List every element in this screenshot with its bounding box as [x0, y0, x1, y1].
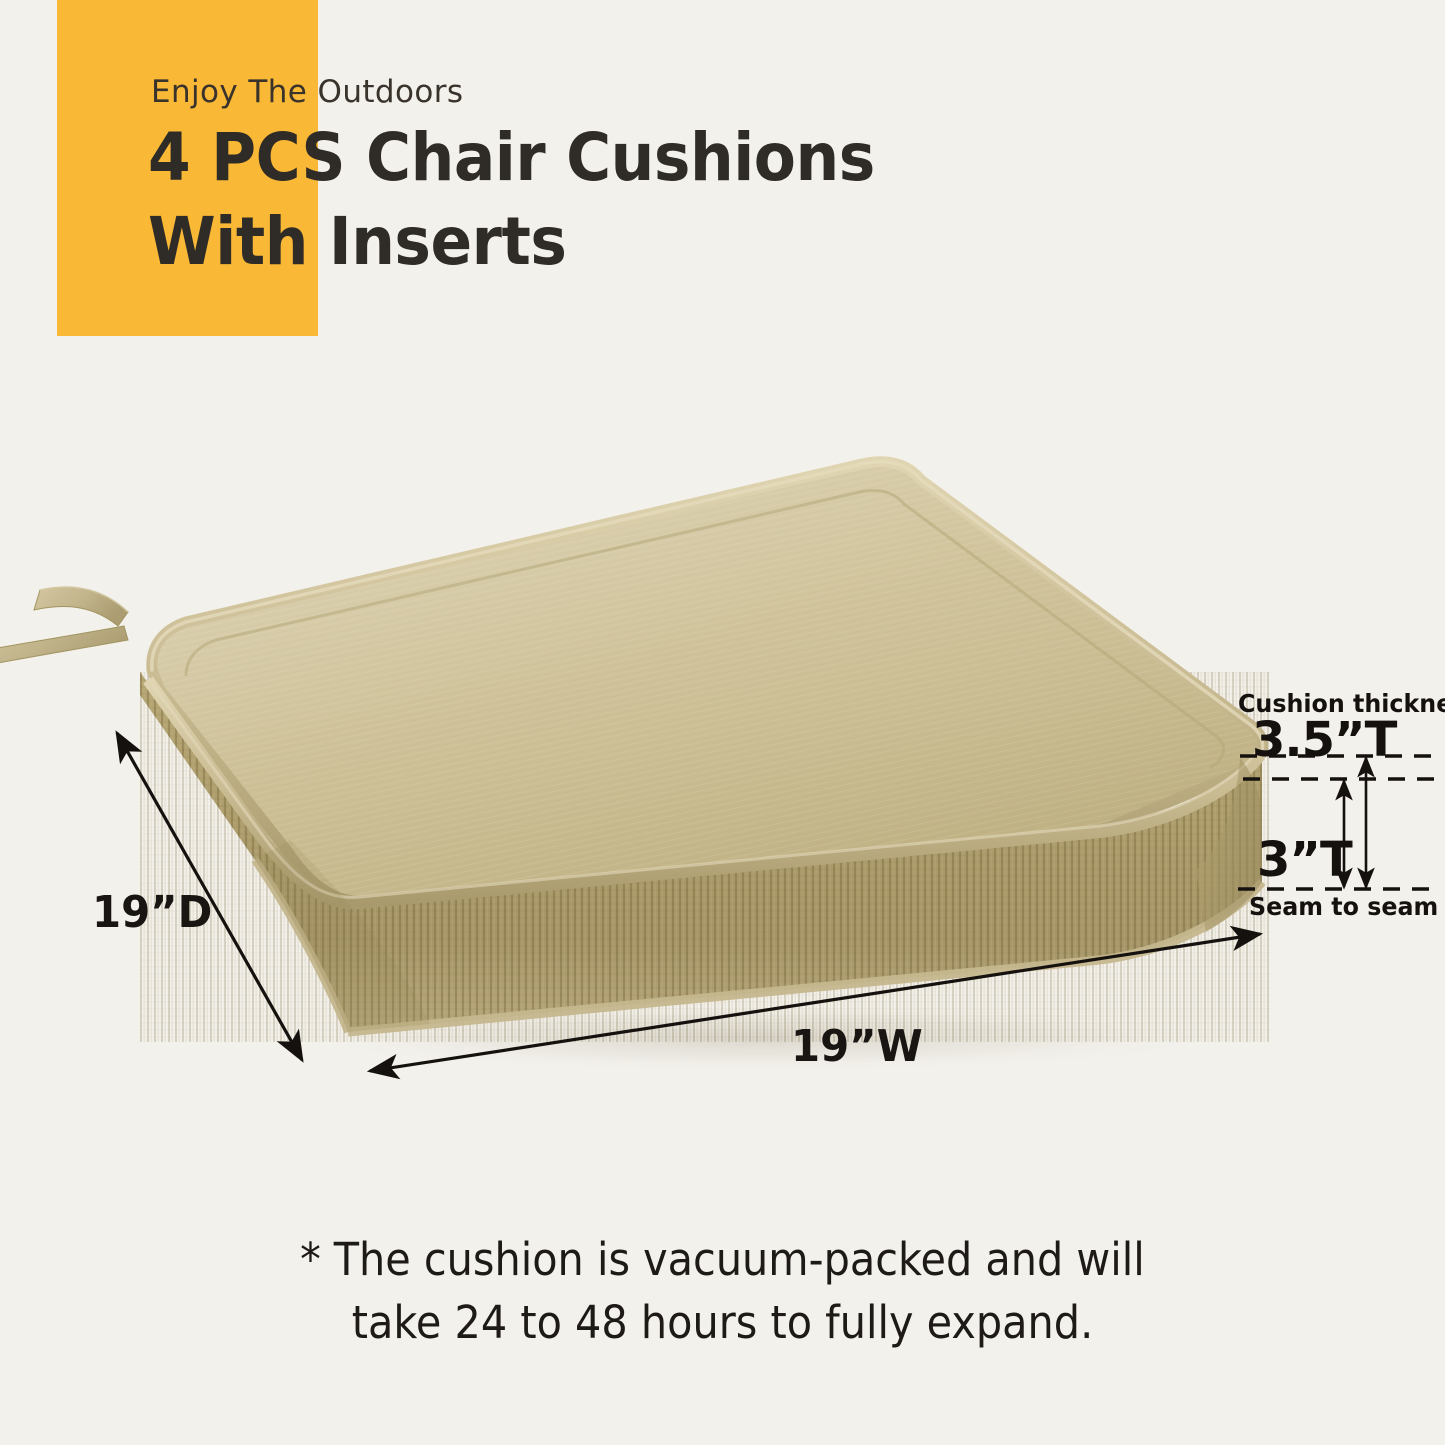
depth-label: 19”D [92, 887, 212, 938]
cushion-tie-straps [0, 587, 128, 670]
headline-line-1: 4 PCS Chair Cushions [148, 116, 985, 200]
page-title: 4 PCS Chair Cushions With Inserts [148, 116, 985, 284]
cushion-illustration [0, 440, 1300, 1080]
footnote-line-1: *The cushion is vacuum-packed and will [58, 1228, 1387, 1291]
footnote-line-2: take 24 to 48 hours to fully expand. [58, 1291, 1387, 1354]
headline-line-2: With Inserts [148, 200, 985, 284]
eyebrow-text: Enjoy The Outdoors [151, 74, 463, 110]
cushion-thickness-value: 3.5”T [1252, 712, 1396, 768]
asterisk-icon: * [300, 1233, 321, 1286]
width-label: 19”W [791, 1021, 923, 1072]
product-infographic: Enjoy The Outdoors 4 PCS Chair Cushions … [0, 0, 1445, 1445]
footnote: *The cushion is vacuum-packed and will t… [0, 1228, 1445, 1354]
seam-thickness-value: 3”T [1257, 832, 1352, 888]
seam-to-seam-caption: Seam to seam [1249, 892, 1438, 921]
footnote-text-1: The cushion is vacuum-packed and will [334, 1233, 1145, 1286]
